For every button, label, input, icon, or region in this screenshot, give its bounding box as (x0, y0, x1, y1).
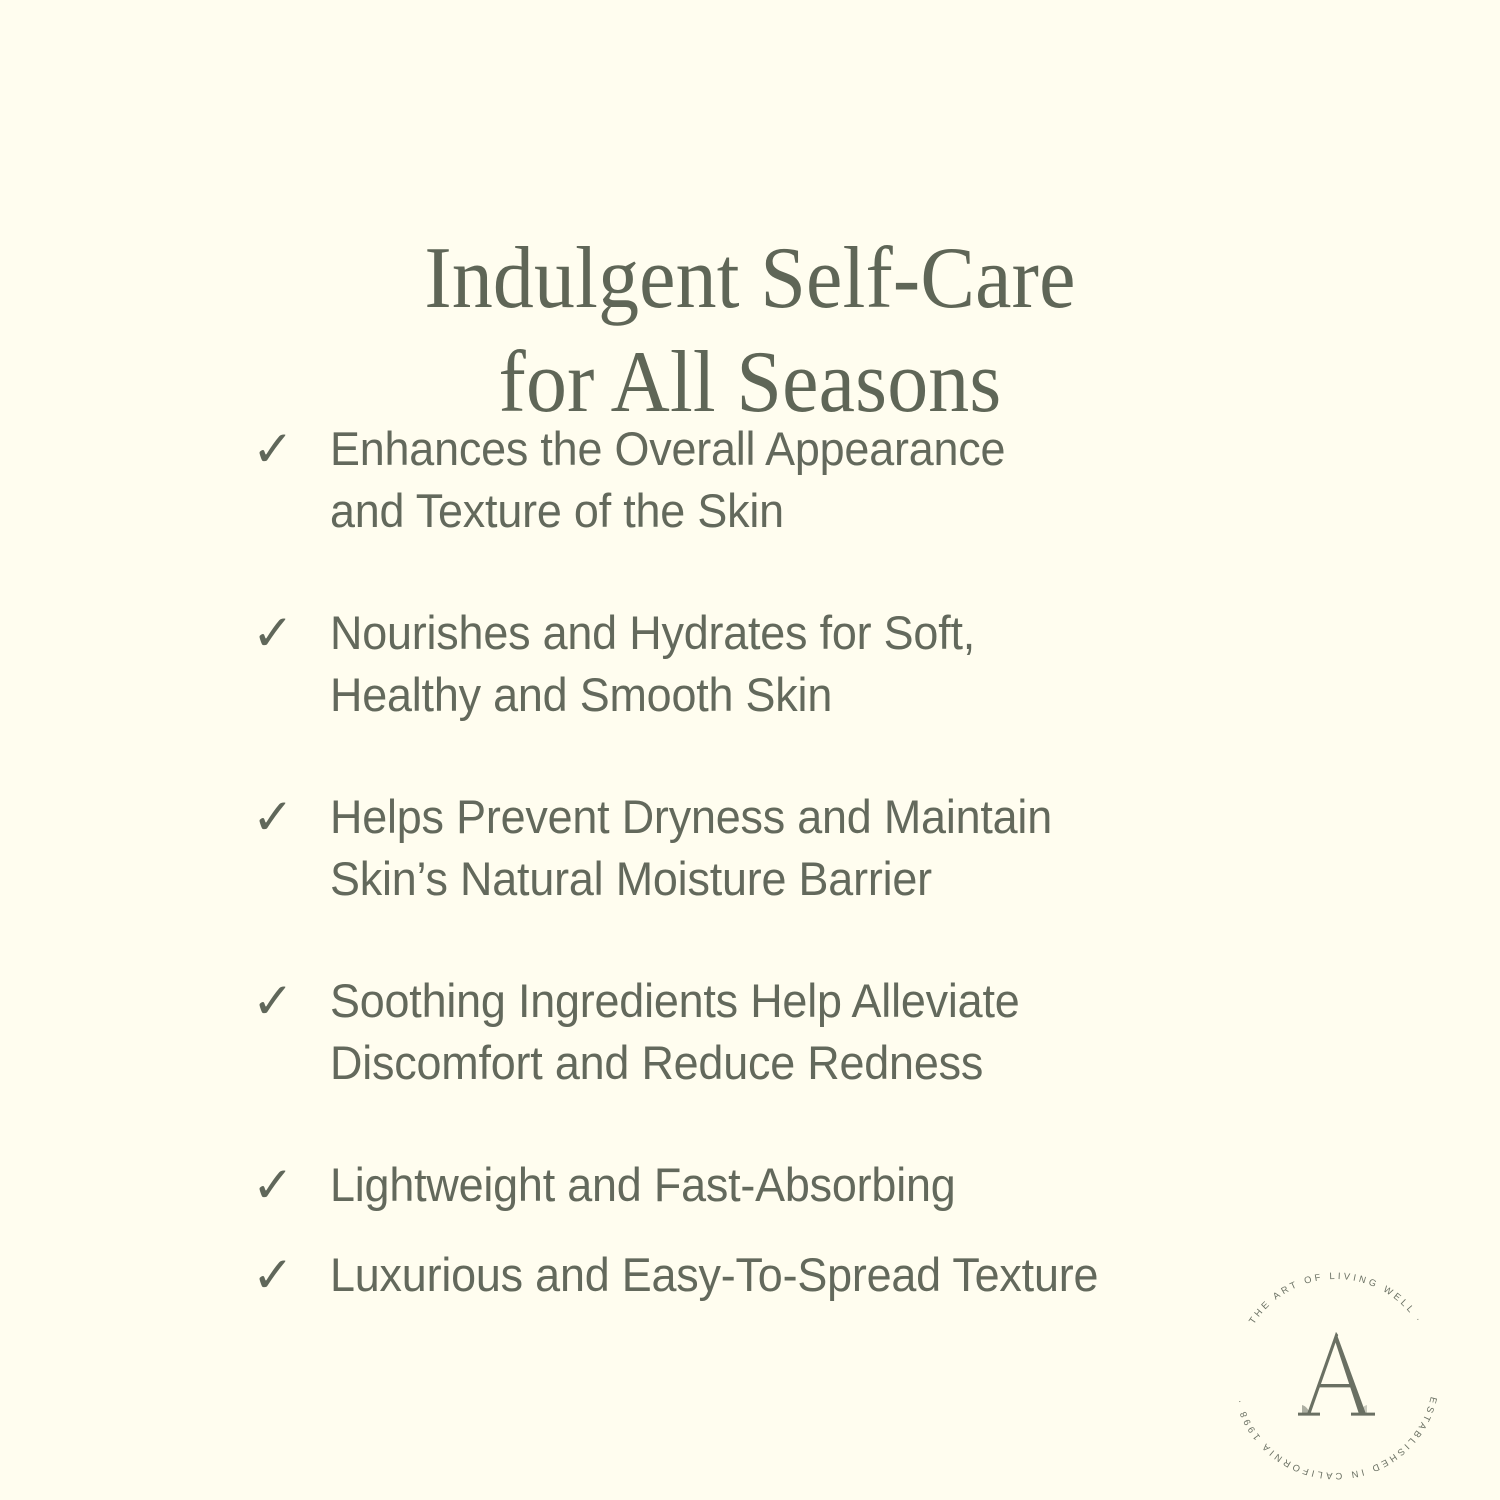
page-title-line-1: Indulgent Self-Care (53, 227, 1448, 331)
list-item-text: Helps Prevent Dryness and Maintain Skin’… (330, 786, 1172, 910)
list-item-text: Luxurious and Easy-To-Spread Texture (330, 1244, 1172, 1306)
check-icon: ✓ (252, 1244, 330, 1306)
list-item-text: Lightweight and Fast-Absorbing (330, 1154, 1172, 1216)
check-icon: ✓ (252, 418, 330, 480)
list-item-line-2: and Texture of the Skin (330, 480, 1172, 542)
page-title: Indulgent Self-Care for All Seasons (0, 227, 1500, 435)
list-item-line-2: Healthy and Smooth Skin (330, 664, 1172, 726)
list-item-line-2: Discomfort and Reduce Redness (330, 1032, 1172, 1094)
brand-seal-logo: THE ART OF LIVING WELL · ESTABLISHED IN … (1222, 1262, 1450, 1490)
list-item: ✓ Soothing Ingredients Help Alleviate Di… (252, 970, 1212, 1094)
list-item: ✓ Luxurious and Easy-To-Spread Texture (252, 1244, 1212, 1306)
list-item-line-2: Skin’s Natural Moisture Barrier (330, 848, 1172, 910)
list-item: ✓ Helps Prevent Dryness and Maintain Ski… (252, 786, 1212, 910)
list-item-line-1: Soothing Ingredients Help Alleviate (330, 970, 1172, 1032)
check-icon: ✓ (252, 970, 330, 1032)
seal-monogram (1222, 1262, 1450, 1490)
monogram-letter-a-icon (1293, 1326, 1379, 1426)
list-item-line-1: Nourishes and Hydrates for Soft, (330, 602, 1172, 664)
list-item-line-1: Enhances the Overall Appearance (330, 418, 1172, 480)
list-item: ✓ Nourishes and Hydrates for Soft, Healt… (252, 602, 1212, 726)
list-item: ✓ Enhances the Overall Appearance and Te… (252, 418, 1212, 542)
list-item-text: Soothing Ingredients Help Alleviate Disc… (330, 970, 1172, 1094)
list-item-text: Enhances the Overall Appearance and Text… (330, 418, 1172, 542)
check-icon: ✓ (252, 786, 330, 848)
list-item: ✓ Lightweight and Fast-Absorbing (252, 1154, 1212, 1216)
check-icon: ✓ (252, 602, 330, 664)
list-item-text: Nourishes and Hydrates for Soft, Healthy… (330, 602, 1172, 726)
promo-graphic: Indulgent Self-Care for All Seasons ✓ En… (0, 0, 1500, 1500)
list-item-line-1: Helps Prevent Dryness and Maintain (330, 786, 1172, 848)
list-item-line-1: Lightweight and Fast-Absorbing (330, 1154, 1172, 1216)
check-icon: ✓ (252, 1154, 330, 1216)
benefits-list: ✓ Enhances the Overall Appearance and Te… (252, 418, 1212, 1334)
list-item-line-1: Luxurious and Easy-To-Spread Texture (330, 1244, 1172, 1306)
